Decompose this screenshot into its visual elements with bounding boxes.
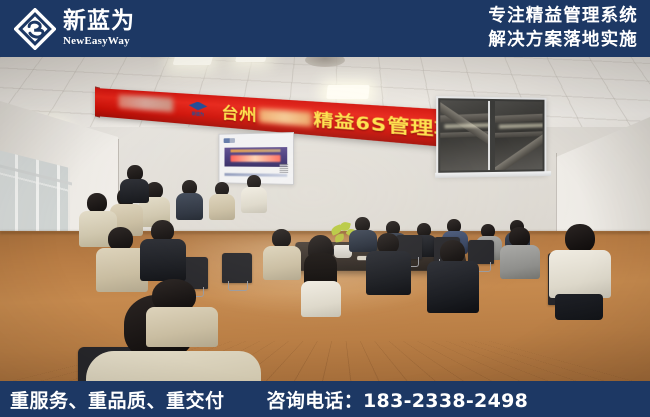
slide-logo [224, 138, 235, 143]
brand-logo[interactable]: 新蓝为 NewEasyWay [14, 8, 135, 50]
banner-text-prefix: 台州 [221, 105, 257, 126]
factory-window [436, 96, 546, 175]
ceiling-light [173, 57, 214, 65]
banner-masked-company [259, 108, 312, 126]
contact-phone[interactable]: 183-2338-2498 [363, 390, 528, 412]
promo-banner-page: 新蓝为 NewEasyWay 专注精益管理系统 解决方案落地实施 [0, 0, 650, 417]
banner-masked-logo [118, 95, 173, 113]
header-slogan-line1: 专注精益管理系统 [488, 5, 638, 28]
site-header: 新蓝为 NewEasyWay 专注精益管理系统 解决方案落地实施 [0, 0, 650, 57]
slide-title-band [225, 147, 288, 167]
footer-slogan: 重服务、重品质、重交付 [10, 386, 225, 413]
ceiling-light [235, 57, 267, 62]
meeting-photo: 新蓝为 台州精益6S管理项目启动大会 [0, 57, 650, 381]
footer-contact[interactable]: 咨询电话：183-2338-2498 [267, 386, 529, 413]
header-slogan: 专注精益管理系统 解决方案落地实施 [488, 5, 642, 51]
banner-company-logo: 新蓝为 [184, 98, 212, 121]
banner-logo-text: 新蓝为 [192, 111, 204, 117]
office-chair [222, 253, 252, 283]
header-slogan-line2: 解决方案落地实施 [488, 29, 638, 52]
site-footer: 重服务、重品质、重交付 咨询电话：183-2338-2498 [0, 381, 650, 417]
window-pane-left [440, 100, 490, 170]
contact-label: 咨询电话： [267, 390, 364, 412]
window-pane-right [495, 101, 543, 170]
brand-name-cn: 新蓝为 [63, 10, 135, 33]
brand-text: 新蓝为 NewEasyWay [63, 10, 135, 47]
brand-name-en: NewEasyWay [63, 36, 135, 47]
diamond-logo-mark [14, 8, 56, 50]
ceiling-light [326, 85, 369, 99]
qr-code-icon [280, 164, 289, 173]
